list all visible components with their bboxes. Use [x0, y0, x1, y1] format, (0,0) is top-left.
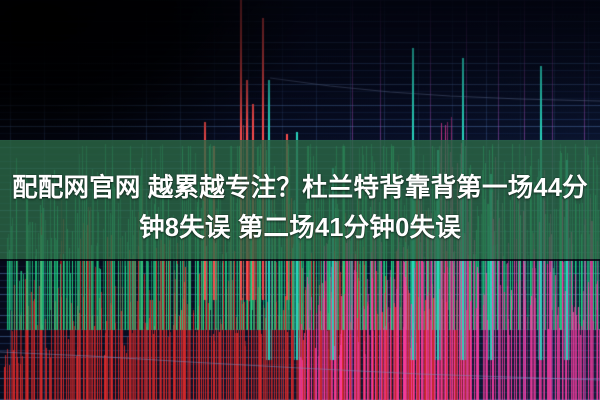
banner-image: 配配网官网 越累越专注？杜兰特背靠背第一场44分 钟8失误 第二场41分钟0失误 [0, 0, 600, 400]
headline-line-1: 配配网官网 越累越专注？杜兰特背靠背第一场44分 [12, 169, 588, 207]
headline-text-block: 配配网官网 越累越专注？杜兰特背靠背第一场44分 钟8失误 第二场41分钟0失误 [0, 140, 600, 259]
headline-line-2: 钟8失误 第二场41分钟0失误 [139, 209, 461, 247]
